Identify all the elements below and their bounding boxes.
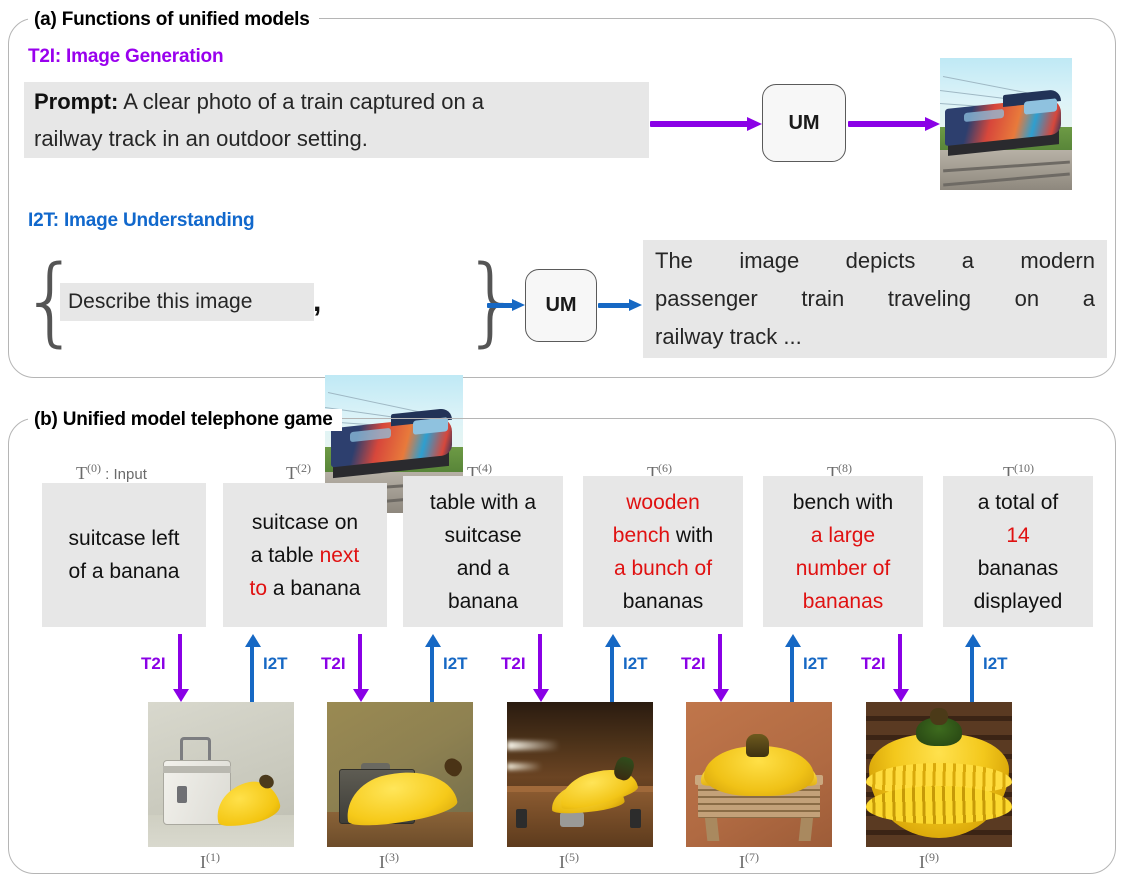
generated-image-2 xyxy=(327,702,473,847)
light-streak xyxy=(507,763,542,770)
trunk-corner-right xyxy=(630,809,642,828)
prompt-text-line-2: railway track in an outdoor setting. xyxy=(34,120,639,157)
image-label-5: I(5) xyxy=(559,850,579,873)
caption-line-3: railway track ... xyxy=(655,318,1095,356)
arrow-shaft xyxy=(250,646,254,702)
i2t-output-arrow xyxy=(598,299,642,311)
t2i-arrow-1 xyxy=(173,634,189,702)
text-node-box-10: a total of14bananasdisplayed xyxy=(943,476,1093,627)
image-label-9: I(9) xyxy=(919,850,939,873)
arrow-shaft xyxy=(718,634,722,690)
i2t-input-arrow xyxy=(487,299,525,311)
arrow-shaft xyxy=(848,121,926,127)
arrow-shaft xyxy=(538,634,542,690)
t2i-output-arrow xyxy=(848,117,940,131)
image-label-3: I(3) xyxy=(379,850,399,873)
arrow-head xyxy=(512,299,525,311)
prompt-textbox: Prompt: A clear photo of a train capture… xyxy=(24,82,649,158)
text-node-content: table with asuitcaseand abanana xyxy=(430,486,536,618)
suitcase-band xyxy=(163,766,232,773)
t2i-arrow-label-2: T2I xyxy=(321,654,346,674)
t2i-arrow-label-1: T2I xyxy=(141,654,166,674)
caption-line-2: passenger train traveling on a xyxy=(655,280,1095,318)
t2i-section-heading: T2I: Image Generation xyxy=(28,46,223,68)
t-label-0: T(0) : Input xyxy=(76,461,147,484)
generated-image-3 xyxy=(507,702,653,847)
um-box-i2t: UM xyxy=(525,269,597,342)
i2t-arrow-label-1: I2T xyxy=(263,654,288,674)
arrow-head xyxy=(785,634,801,647)
panel-a-title: (a) Functions of unified models xyxy=(28,9,319,31)
arrow-shaft xyxy=(790,646,794,702)
t2i-arrow-2 xyxy=(353,634,369,702)
suitcase-lock xyxy=(177,786,187,803)
caption-line-1: The image depicts a modern xyxy=(655,242,1095,280)
t-label-2: T(2) xyxy=(286,461,311,484)
arrow-head xyxy=(173,689,189,702)
text-node-box-8: bench witha largenumber ofbananas xyxy=(763,476,923,627)
i2t-arrow-label-4: I2T xyxy=(803,654,828,674)
text-node-content: suitcase leftof a banana xyxy=(69,522,180,588)
text-node-box-0: suitcase leftof a banana xyxy=(42,483,206,627)
generated-train-image xyxy=(940,58,1072,190)
arrow-head xyxy=(533,689,549,702)
arrow-shaft xyxy=(430,646,434,702)
arrow-shaft xyxy=(898,634,902,690)
banana-row xyxy=(866,786,1012,824)
suitcase-handle xyxy=(180,737,211,762)
arrow-shaft xyxy=(487,303,513,308)
light-streak xyxy=(507,741,560,750)
arrow-shaft xyxy=(650,121,748,127)
i2t-arrow-2 xyxy=(425,634,441,702)
arrow-shaft xyxy=(178,634,182,690)
text-node-content: woodenbench witha bunch ofbananas xyxy=(613,486,713,618)
banana-stem xyxy=(930,708,948,725)
arrow-head xyxy=(353,689,369,702)
text-node-box-2: suitcase ona table nextto a banana xyxy=(223,483,387,627)
i2t-arrow-label-3: I2T xyxy=(623,654,648,674)
prompt-label: Prompt: xyxy=(34,89,118,114)
arrow-head xyxy=(629,299,642,311)
arrow-head xyxy=(605,634,621,647)
t2i-arrow-label-5: T2I xyxy=(861,654,886,674)
i2t-arrow-5 xyxy=(965,634,981,702)
figure-root: (a) Functions of unified models T2I: Ima… xyxy=(0,0,1124,882)
describe-prompt-textbox: Describe this image xyxy=(60,283,314,321)
arrow-head xyxy=(425,634,441,647)
arrow-head xyxy=(245,634,261,647)
i2t-arrow-label-5: I2T xyxy=(983,654,1008,674)
comma-separator: , xyxy=(313,285,321,319)
arrow-head xyxy=(925,117,940,131)
generated-image-4 xyxy=(686,702,832,847)
image-label-1: I(1) xyxy=(200,850,220,873)
trunk-latch xyxy=(560,812,585,827)
prompt-line-1: Prompt: A clear photo of a train capture… xyxy=(34,83,639,120)
text-node-content: suitcase ona table nextto a banana xyxy=(250,506,361,605)
i2t-arrow-3 xyxy=(605,634,621,702)
arrow-head xyxy=(713,689,729,702)
arrow-shaft xyxy=(610,646,614,702)
i2t-arrow-1 xyxy=(245,634,261,702)
t2i-arrow-3 xyxy=(533,634,549,702)
i2t-section-heading: I2T: Image Understanding xyxy=(28,210,254,232)
t2i-arrow-label-4: T2I xyxy=(681,654,706,674)
text-node-content: bench witha largenumber ofbananas xyxy=(793,486,893,618)
i2t-arrow-4 xyxy=(785,634,801,702)
i2t-arrow-label-2: I2T xyxy=(443,654,468,674)
t2i-arrow-4 xyxy=(713,634,729,702)
arrow-head xyxy=(893,689,909,702)
t2i-arrow-label-3: T2I xyxy=(501,654,526,674)
arrow-head xyxy=(747,117,762,131)
t2i-input-arrow xyxy=(650,117,762,131)
text-node-box-4: table with asuitcaseand abanana xyxy=(403,476,563,627)
image-label-7: I(7) xyxy=(739,850,759,873)
caption-output-textbox: The image depicts a modern passenger tra… xyxy=(643,240,1107,358)
banana-stem xyxy=(746,734,769,757)
text-node-box-6: woodenbench witha bunch ofbananas xyxy=(583,476,743,627)
panel-b-title: (b) Unified model telephone game xyxy=(28,409,342,431)
generated-image-1 xyxy=(148,702,294,847)
arrow-shaft xyxy=(358,634,362,690)
generated-image-5 xyxy=(866,702,1012,847)
t2i-arrow-5 xyxy=(893,634,909,702)
arrow-shaft xyxy=(598,303,630,308)
arrow-shaft xyxy=(970,646,974,702)
text-node-content: a total of14bananasdisplayed xyxy=(974,486,1063,618)
prompt-text-line-1: A clear photo of a train captured on a xyxy=(118,89,484,114)
um-box-t2i: UM xyxy=(762,84,846,162)
arrow-head xyxy=(965,634,981,647)
trunk-corner-left xyxy=(516,809,528,828)
